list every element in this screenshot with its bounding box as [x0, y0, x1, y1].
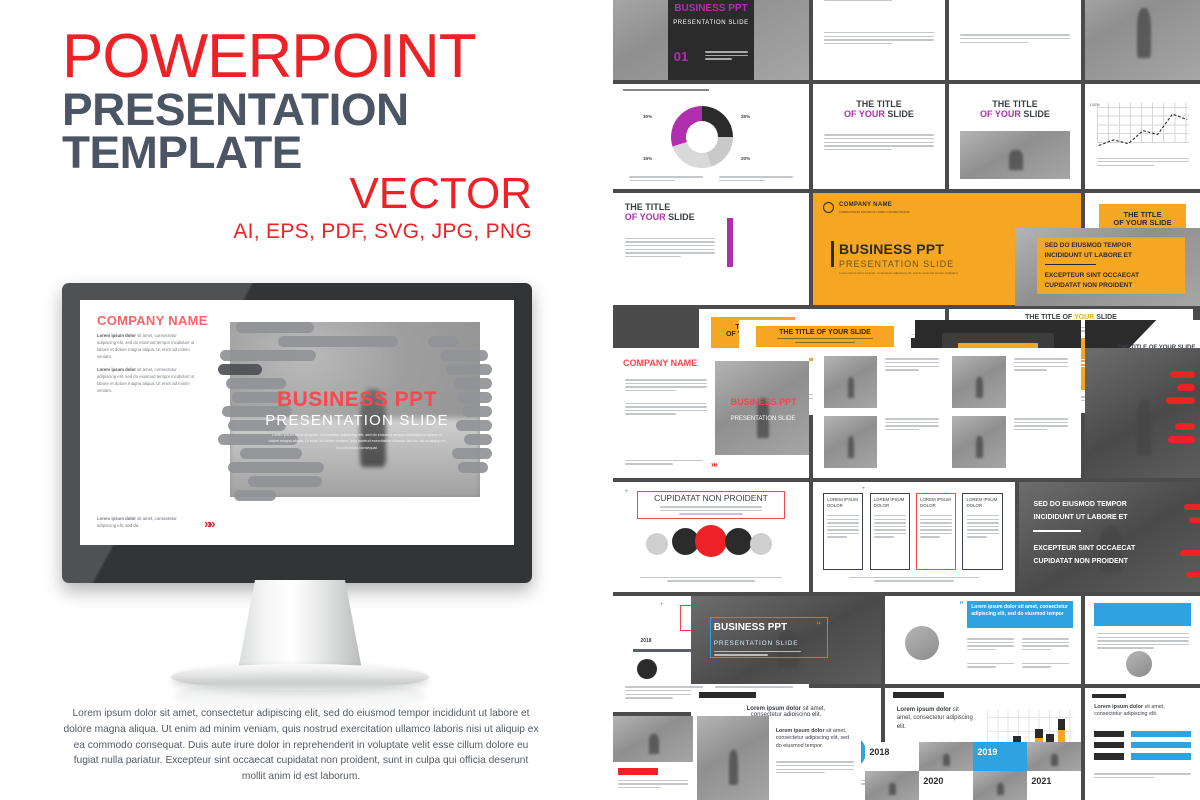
overlay-red-line1: SED DO EIUSMOD TEMPOR	[1033, 500, 1185, 509]
red-cover-company: COMPANY NAME	[623, 358, 697, 368]
chevrons-right-icon: »»	[711, 460, 716, 469]
avatar	[1126, 651, 1152, 677]
overlay-orange-line4: CUPIDATAT NON PROIDENT	[1045, 282, 1182, 291]
quote-icon: “	[959, 600, 963, 609]
red-cover-title: BUSINESS PPT	[731, 397, 797, 407]
headline-presentation-template: PRESENTATION TEMPLATE	[62, 89, 541, 175]
orange-cover-title: BUSINESS PPT	[839, 241, 944, 257]
blue-bars-heading: Lorem ipsum dolor sit amet, consectetur …	[897, 706, 975, 731]
text-lines	[1022, 638, 1069, 652]
slide-blue-right[interactable]	[1085, 596, 1200, 684]
lorem-card-label-0: LOREM IPSUM DOLOR	[827, 497, 861, 508]
donut-label-3: 20%	[741, 156, 750, 161]
chart-icon	[725, 528, 752, 555]
text-lines	[1097, 633, 1189, 651]
orange-cover-body: Lorem ipsum dolor sit amet, consectetur …	[839, 271, 959, 276]
slide-bottom-mid[interactable]: Lorem ipsum dolor sit amet, consectetur …	[697, 716, 861, 800]
text-lines	[960, 34, 1071, 45]
orange-cover-subtitle: PRESENTATION SLIDE	[839, 259, 954, 269]
slide-title: THE TITLEOF YOUR SLIDE	[957, 99, 1073, 119]
slide-blue-list[interactable]: Lorem ipsum dolor sit amet, consectetur …	[1085, 688, 1200, 800]
donut-label-0: 30%	[643, 114, 652, 119]
annual-year: 2018	[640, 638, 651, 644]
overlay-red-line3: EXCEPTEUR SINT OCCAECAT	[1033, 544, 1185, 553]
text-lines	[967, 515, 999, 540]
text-lines	[629, 176, 703, 183]
slide-text-mid[interactable]	[949, 0, 1081, 80]
donut-chart	[671, 106, 733, 168]
slide-lorem-cards[interactable]: + LOREM IPSUM DOLOR LOREM IPSUM DOLOR LO…	[813, 482, 1015, 592]
overlay-red-line2: INCIDIDUNT UT LABORE ET	[1033, 513, 1185, 522]
lorem-card-label-1: LOREM IPSUM DOLOR	[874, 497, 908, 508]
donut-label-1: 25%	[741, 114, 750, 119]
overlay-orange-line3: EXCEPTEUR SINT OCCAECAT	[1045, 272, 1182, 281]
blue-quote-text: Lorem ipsum dolor sit amet, consectetur …	[971, 604, 1069, 619]
text-lines	[849, 577, 978, 582]
user-icon	[695, 525, 727, 557]
overlay-red-line4: CUPIDATAT NON PROIDENT	[1033, 557, 1185, 566]
poster-root: POWERPOINT PRESENTATION TEMPLATE VECTOR …	[0, 0, 1200, 800]
timeline-title: THE TITLE OF YOUR SLIDE	[756, 329, 894, 336]
text-lines	[714, 651, 801, 658]
mosaic-year-1: 2019	[977, 747, 997, 757]
slide-photo-right[interactable]	[1085, 0, 1200, 80]
slide-donut-chart[interactable]: 30% 25% 15% 20%	[613, 84, 809, 189]
text-lines	[625, 379, 707, 393]
plus-icon: +	[625, 489, 629, 495]
text-lines	[776, 761, 855, 775]
slide-photo-text-grid[interactable]	[813, 348, 1081, 478]
text-lines	[824, 0, 935, 3]
slide-title: THE TITLEOF YOUR SLIDE	[625, 202, 743, 222]
text-lines	[777, 338, 873, 343]
slide-red-cover[interactable]: COMPANY NAME BUSINESS PPT PRESENTATION S…	[613, 348, 809, 478]
text-lines	[920, 515, 952, 540]
text-lines	[618, 780, 688, 791]
donut-label-2: 15%	[643, 156, 652, 161]
slide-overlay-red[interactable]: SED DO EIUSMOD TEMPOR INCIDIDUNT UT LABO…	[1019, 482, 1200, 592]
text-lines	[625, 403, 707, 417]
text-lines	[967, 638, 1014, 652]
blue-cover-subtitle: PRESENTATION SLIDE	[714, 640, 799, 647]
headline-vector: VECTOR	[62, 172, 532, 216]
purple-cover-subtitle: PRESENTATION SLIDE	[668, 20, 754, 27]
text-lines	[1094, 773, 1191, 780]
text-lines	[1014, 358, 1068, 372]
megaphone-icon	[646, 533, 668, 555]
trend-line-icon	[1097, 103, 1189, 149]
text-lines	[1014, 418, 1068, 432]
overlay-orange-line2: INCIDIDUNT UT LABORE ET	[1045, 252, 1182, 261]
text-lines	[827, 515, 859, 540]
text-lines	[824, 32, 935, 46]
target-icon	[750, 533, 772, 555]
plus-icon: +	[660, 602, 664, 608]
slide-year-mosaic[interactable]: 2018 2019 2020 2021	[865, 742, 1081, 800]
monitor-mockup: COMPANY NAME Lorem ipsum dolor sit amet,…	[62, 283, 532, 583]
red-cover-subtitle: PRESENTATION SLIDE	[731, 416, 796, 422]
mosaic-year-0: 2018	[869, 747, 889, 757]
text-lines	[625, 238, 715, 259]
text-lines	[1022, 663, 1069, 670]
bottom-mid-heading: Lorem ipsum dolor sit amet, consectetur …	[776, 728, 855, 751]
text-lines	[824, 134, 935, 152]
slide-blue-cover[interactable]: BUSINESS PPT PRESENTATION SLIDE “	[691, 596, 881, 684]
slide-line-graph[interactable]: 100%	[1085, 84, 1200, 189]
slide-text-left[interactable]	[813, 0, 945, 80]
title-block: POWERPOINT PRESENTATION TEMPLATE VECTOR …	[62, 28, 532, 244]
slide-overlay-orange[interactable]: SED DO EIUSMOD TEMPOR INCIDIDUNT UT LABO…	[1015, 228, 1200, 306]
file-formats-list: AI, EPS, PDF, SVG, JPG, PNG	[62, 220, 532, 244]
text-lines	[874, 515, 906, 540]
slide-purple-title-b[interactable]: THE TITLEOF YOUR SLIDE	[949, 84, 1081, 189]
plus-icon: +	[861, 486, 865, 492]
logo-icon	[823, 202, 834, 213]
text-lines	[1097, 158, 1189, 169]
purple-cover-number: 01	[674, 49, 688, 64]
slide-purple-cover[interactable]: BUSINESS PPT PRESENTATION SLIDE 01	[613, 0, 809, 80]
left-panel: POWERPOINT PRESENTATION TEMPLATE VECTOR …	[0, 0, 600, 800]
text-lines	[640, 577, 781, 582]
text-lines	[719, 176, 793, 183]
slide-purple-title-a[interactable]: THE TITLEOF YOUR SLIDE	[813, 84, 945, 189]
slide-grid-panel: BUSINESS PPT PRESENTATION SLIDE 01 30% 2…	[613, 0, 1200, 800]
monitor-stand-neck	[238, 580, 363, 672]
lorem-card-label-3: LOREM IPSUM DOLOR	[967, 497, 1001, 508]
text-lines	[885, 358, 939, 372]
slide-liquid-photo[interactable]	[1085, 348, 1200, 478]
slide-cupidatat[interactable]: + CUPIDATAT NON PROIDENT	[613, 482, 809, 592]
mosaic-year-3: 2021	[1031, 776, 1051, 786]
orange-card-title: THE TITLEOF YOUR SLIDE	[1101, 211, 1184, 228]
avatar	[905, 626, 939, 660]
monitor-glare	[62, 283, 532, 583]
blue-list-heading: Lorem ipsum dolor sit amet, consectetur …	[1094, 704, 1191, 719]
overlay-orange-line1: SED DO EIUSMOD TEMPOR	[1045, 242, 1182, 251]
headline-powerpoint: POWERPOINT	[62, 28, 532, 87]
text-lines	[705, 51, 748, 62]
blue-cover-title: BUSINESS PPT	[714, 622, 787, 633]
text-lines	[625, 460, 703, 467]
slide-title: THE TITLEOF YOUR SLIDE	[821, 99, 937, 119]
lorem-card-label-2: LOREM IPSUM DOLOR	[920, 497, 954, 508]
slide-blue-quote[interactable]: Lorem ipsum dolor sit amet, consectetur …	[885, 596, 1081, 684]
purple-cover-title: BUSINESS PPT	[672, 3, 750, 14]
poster-caption: Lorem ipsum dolor sit amet, consectetur …	[62, 706, 540, 785]
slide-purple-title-c[interactable]: THE TITLEOF YOUR SLIDE	[613, 193, 809, 305]
quote-icon: “	[816, 620, 821, 630]
orange-company-name: COMPANY NAME	[839, 202, 892, 208]
orange-company-sub: LOREM IPSUM DOLOR SIT AMET CONSECTETUR	[839, 210, 959, 214]
text-lines	[660, 506, 762, 515]
cupidatat-title: CUPIDATAT NON PROIDENT	[637, 493, 786, 503]
monitor-bezel: COMPANY NAME Lorem ipsum dolor sit amet,…	[62, 283, 532, 583]
mosaic-year-2: 2020	[923, 776, 943, 786]
lock-icon	[637, 659, 657, 679]
text-lines	[967, 663, 1014, 670]
text-lines	[885, 418, 939, 432]
slide-bottom-left[interactable]	[613, 716, 693, 800]
